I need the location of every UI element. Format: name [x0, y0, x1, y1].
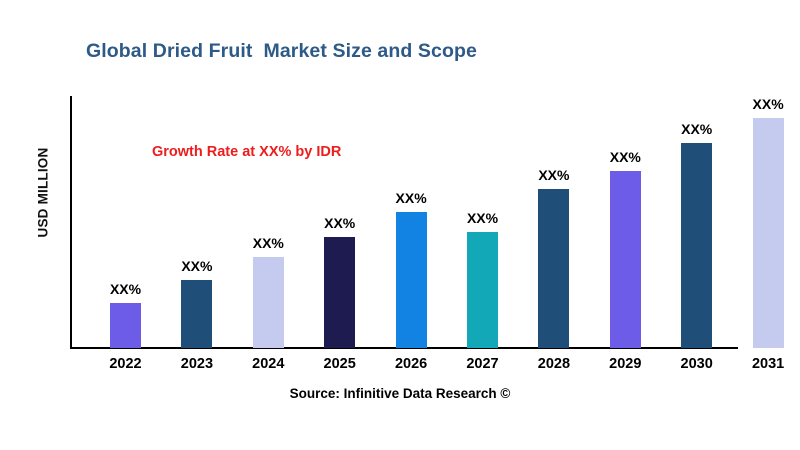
x-axis-tick-label: 2031: [752, 356, 784, 372]
bar[interactable]: [396, 212, 427, 348]
bar-value-label: XX%: [110, 281, 141, 297]
bar[interactable]: [681, 143, 712, 348]
bar-value-label: XX%: [753, 96, 784, 112]
bar-value-label: XX%: [181, 258, 212, 274]
bar-value-label: XX%: [610, 149, 641, 165]
bar-value-label: XX%: [681, 121, 712, 137]
x-axis-tick-label: 2027: [466, 356, 498, 372]
source-note: Source: Infinitive Data Research ©: [0, 386, 800, 401]
bar[interactable]: [467, 232, 498, 348]
bar-value-label: XX%: [538, 167, 569, 183]
plot-area: XX%2022XX%2023XX%2024XX%2025XX%2026XX%20…: [0, 0, 800, 450]
bar-value-label: XX%: [467, 210, 498, 226]
bar[interactable]: [110, 303, 141, 348]
bar-value-label: XX%: [396, 190, 427, 206]
bar-value-label: XX%: [324, 215, 355, 231]
x-axis-tick-label: 2022: [109, 356, 141, 372]
bar[interactable]: [253, 257, 284, 348]
bar[interactable]: [181, 280, 212, 348]
x-axis-tick-label: 2028: [538, 356, 570, 372]
x-axis-tick-label: 2029: [609, 356, 641, 372]
chart-figure: Global Dried Fruit Market Size and Scope…: [0, 0, 800, 450]
bar[interactable]: [610, 171, 641, 348]
x-axis-tick-label: 2024: [252, 356, 284, 372]
x-axis-tick-label: 2026: [395, 356, 427, 372]
bar[interactable]: [538, 189, 569, 348]
bar-value-label: XX%: [253, 235, 284, 251]
x-axis-tick-label: 2025: [324, 356, 356, 372]
x-axis-tick-label: 2030: [681, 356, 713, 372]
growth-rate-annotation: Growth Rate at XX% by IDR: [152, 144, 341, 160]
bar[interactable]: [324, 237, 355, 348]
x-axis-tick-label: 2023: [181, 356, 213, 372]
bar[interactable]: [753, 118, 784, 348]
